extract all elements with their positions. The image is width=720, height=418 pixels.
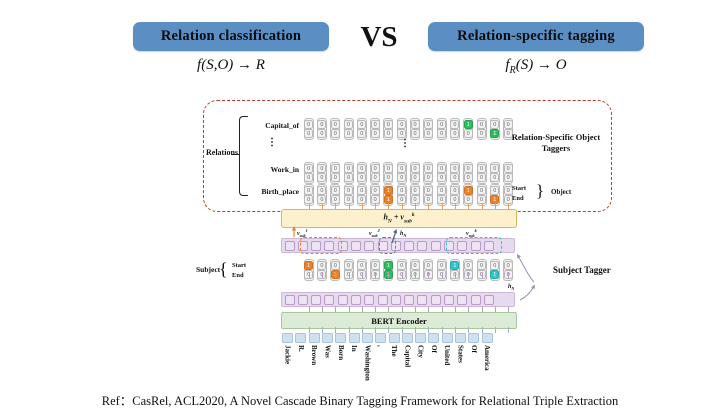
work-in-end-cell-11: 0	[450, 173, 459, 182]
encoder-token-top-9	[404, 241, 414, 251]
input-token-label-14: Of	[470, 345, 478, 353]
input-token-12: United	[441, 333, 454, 381]
capital-of-capsule-8: 00	[410, 118, 420, 140]
work-in-end-cell-6: 0	[384, 173, 393, 182]
subject-span-united-states-of-america	[446, 237, 502, 254]
tick-bar-to-grid-7	[402, 203, 403, 209]
work-in-col-13: 00	[475, 162, 488, 184]
subject-start-cell-9: 0	[424, 261, 433, 270]
capital-of-capsule-14: 01	[490, 118, 500, 140]
tick-purple-to-bert-4	[362, 307, 363, 312]
capital-of-end-cell-10: 0	[437, 129, 446, 138]
tick-purple-to-bert-7	[402, 307, 403, 312]
tick-subject-to-purple-6	[388, 272, 389, 278]
object-tagger-ellipsis-icon: ⋮	[400, 142, 410, 146]
capital-of-col-14: 01	[488, 118, 501, 140]
encoder-token-bottom-8	[391, 295, 401, 305]
object-start-end-labels: Start End	[512, 184, 526, 203]
object-label: Object	[551, 188, 571, 196]
birth-place-start-cell-6: 1	[384, 186, 393, 195]
tick-bert-to-input-15	[508, 327, 509, 333]
capital-of-capsule-13: 00	[477, 118, 487, 140]
tick-bert-to-input-3	[349, 327, 350, 333]
work-in-capsule-7: 00	[397, 162, 407, 184]
capital-of-col-8: 00	[408, 118, 421, 140]
input-token-box-4	[335, 333, 346, 343]
input-token-box-5	[349, 333, 360, 343]
tick-bert-to-input-2	[335, 327, 336, 333]
input-token-row: JackieR.BrownWasBornInWashington,TheCapi…	[281, 333, 494, 381]
subject-start-cell-0: 1	[304, 261, 313, 270]
subject-start-cell-2: 0	[331, 261, 340, 270]
work-in-end-cell-9: 0	[424, 173, 433, 182]
encoder-token-bottom-5	[351, 295, 361, 305]
work-in-start-cell-15: 0	[504, 164, 513, 173]
input-token-box-9	[402, 333, 413, 343]
subject-start-cell-1: 0	[317, 261, 326, 270]
work-in-col-12: 00	[462, 162, 475, 184]
relations-ellipsis-icon: ⋮	[267, 141, 277, 145]
tick-bar-to-grid-6	[388, 203, 389, 209]
input-token-box-14	[468, 333, 479, 343]
relation-specific-tagging-label: Relation-specific tagging	[457, 28, 615, 45]
capital-of-end-cell-2: 0	[331, 129, 340, 138]
capital-of-end-cell-5: 0	[371, 129, 380, 138]
work-in-capsule-5: 00	[370, 162, 380, 184]
tick-bert-to-input-6	[388, 327, 389, 333]
relation-classification-formula: f(S,O) → R	[133, 57, 329, 74]
birth-place-start-cell-10: 0	[437, 186, 446, 195]
subject-span-jackie-r-brown	[300, 237, 343, 254]
capital-of-start-cell-2: 0	[331, 120, 340, 129]
input-token-label-8: The	[390, 345, 398, 357]
subject-start-cell-14: 0	[490, 261, 499, 270]
tick-subject-to-purple-3	[349, 272, 350, 278]
capital-of-col-5: 00	[368, 118, 381, 140]
tick-subject-to-purple-7	[402, 272, 403, 278]
object-tagger-row-birth-place: 00000000000011000000000010000100	[302, 184, 515, 206]
capital-of-capsule-12: 10	[463, 118, 473, 140]
tick-bert-to-input-4	[362, 327, 363, 333]
tick-bar-to-grid-10	[442, 203, 443, 209]
capital-of-end-cell-1: 0	[317, 129, 326, 138]
tick-bert-to-input-9	[428, 327, 429, 333]
work-in-col-2: 00	[329, 162, 342, 184]
object-start-label: Start	[512, 184, 526, 194]
tick-subject-to-purple-15	[508, 272, 509, 278]
encoder-token-top-10	[417, 241, 427, 251]
relations-label: Relations	[206, 148, 238, 157]
input-token-box-1	[295, 333, 306, 343]
encoder-token-top-11	[431, 241, 441, 251]
subject-start-cell-6: 1	[384, 261, 393, 270]
subject-start-cell-10: 0	[437, 261, 446, 270]
input-token-14: Of	[467, 333, 480, 381]
capital-of-start-cell-6: 0	[384, 120, 393, 129]
encoder-token-bottom-3	[324, 295, 334, 305]
subject-start-end-labels: Start End	[232, 261, 246, 280]
tick-bar-to-grid-4	[362, 203, 363, 209]
tick-purple-to-bert-3	[349, 307, 350, 312]
subject-start-label: Start	[232, 261, 246, 271]
work-in-end-cell-2: 0	[331, 173, 340, 182]
relation-specific-tagging-box: Relation-specific tagging	[428, 22, 644, 51]
tick-bert-to-input-1	[322, 327, 323, 333]
work-in-start-cell-13: 0	[477, 164, 486, 173]
subject-start-cell-8: 0	[411, 261, 420, 270]
capital-of-end-cell-6: 0	[384, 129, 393, 138]
feature-bar-formula: hN + vsubk	[383, 212, 414, 224]
tick-purple-to-bert-15	[508, 307, 509, 312]
hn-tag: hN	[400, 231, 406, 238]
work-in-capsule-0: 00	[304, 162, 314, 184]
work-in-col-1: 00	[315, 162, 328, 184]
work-in-capsule-3: 00	[344, 162, 354, 184]
relation-classification-box: Relation classification	[133, 22, 329, 51]
subject-end-label: End	[232, 271, 246, 281]
relation-classification-label: Relation classification	[161, 28, 301, 45]
input-token-5: In	[347, 333, 360, 381]
work-in-start-cell-2: 0	[331, 164, 340, 173]
work-in-end-cell-15: 0	[504, 173, 513, 182]
birth-place-start-cell-14: 0	[490, 186, 499, 195]
tick-bert-to-input-5	[375, 327, 376, 333]
capital-of-end-cell-9: 0	[424, 129, 433, 138]
input-token-label-13: States	[457, 345, 465, 363]
capital-of-start-cell-10: 0	[437, 120, 446, 129]
capital-of-end-cell-4: 0	[357, 129, 366, 138]
birth-place-start-cell-7: 0	[397, 186, 406, 195]
tick-bar-to-grid-13	[482, 203, 483, 209]
object-tagger-row-capital-of: 00000000000000000000000010000100	[302, 118, 515, 140]
work-in-end-cell-3: 0	[344, 173, 353, 182]
subject-start-cell-11: 1	[450, 261, 459, 270]
work-in-start-cell-4: 0	[357, 164, 366, 173]
encoder-token-bottom-13	[457, 295, 467, 305]
input-token-1: R.	[294, 333, 307, 381]
object-tagger-row-work-in: 00000000000000000000000000000000	[302, 162, 515, 184]
input-token-label-7: ,	[377, 345, 385, 347]
input-token-box-12	[442, 333, 453, 343]
work-in-end-cell-1: 0	[317, 173, 326, 182]
tick-bar-to-grid-1	[322, 203, 323, 209]
tick-subject-to-purple-4	[362, 272, 363, 278]
tick-subject-to-purple-0	[309, 272, 310, 278]
capital-of-capsule-5: 00	[370, 118, 380, 140]
encoder-token-bottom-6	[364, 295, 374, 305]
vsub-tag-2: vsub2	[369, 228, 380, 238]
subject-label: Subject	[196, 265, 220, 274]
work-in-start-cell-3: 0	[344, 164, 353, 173]
capital-of-start-cell-15: 0	[504, 120, 513, 129]
work-in-col-6: 00	[382, 162, 395, 184]
capital-of-col-4: 00	[355, 118, 368, 140]
work-in-col-8: 00	[408, 162, 421, 184]
object-brace: }	[536, 181, 544, 201]
work-in-col-10: 00	[435, 162, 448, 184]
encoder-token-bottom-10	[417, 295, 427, 305]
slide-canvas: Relation classification f(S,O) → R VS Re…	[0, 0, 720, 418]
capital-of-capsule-6: 00	[383, 118, 393, 140]
relation-row-label-work-in: Work_in	[249, 165, 299, 174]
subject-tagger-row: 10000100000011000000001000000100	[302, 259, 515, 281]
tick-bar-to-grid-14	[495, 203, 496, 209]
birth-place-start-cell-3: 0	[344, 186, 353, 195]
capital-of-end-cell-12: 0	[464, 129, 473, 138]
capital-of-start-cell-12: 1	[464, 120, 473, 129]
tick-purple-to-bert-13	[482, 307, 483, 312]
reference-line: Ref：CasRel, ACL2020, A Novel Cascade Bin…	[0, 390, 720, 409]
work-in-end-cell-10: 0	[437, 173, 446, 182]
work-in-col-4: 00	[355, 162, 368, 184]
encoder-token-bottom-12	[444, 295, 454, 305]
capital-of-start-cell-11: 0	[450, 120, 459, 129]
capital-of-start-cell-9: 0	[424, 120, 433, 129]
input-token-10: City	[414, 333, 427, 381]
capital-of-col-2: 00	[329, 118, 342, 140]
relation-row-label-capital-of: Capital_of	[249, 121, 299, 130]
capital-of-col-11: 00	[448, 118, 461, 140]
birth-place-start-cell-2: 0	[331, 186, 340, 195]
capital-of-end-cell-7: 0	[397, 129, 406, 138]
tick-bert-to-input-13	[482, 327, 483, 333]
work-in-capsule-1: 00	[317, 162, 327, 184]
work-in-end-cell-8: 0	[411, 173, 420, 182]
birth-place-start-cell-4: 0	[357, 186, 366, 195]
tick-purple-to-bert-6	[388, 307, 389, 312]
tick-subject-to-purple-10	[442, 272, 443, 278]
subject-brace: {	[219, 259, 228, 280]
work-in-start-cell-12: 0	[464, 164, 473, 173]
tick-purple-to-bert-14	[495, 307, 496, 312]
input-token-9: Capital	[401, 333, 414, 381]
tick-bar-to-grid-3	[349, 203, 350, 209]
tick-bert-to-input-0	[309, 327, 310, 333]
capital-of-capsule-0: 00	[304, 118, 314, 140]
vs-label: VS	[334, 21, 424, 54]
tick-bar-to-grid-11	[455, 203, 456, 209]
tick-subject-to-purple-11	[455, 272, 456, 278]
work-in-col-15: 00	[501, 162, 514, 184]
work-in-start-cell-11: 0	[450, 164, 459, 173]
work-in-col-7: 00	[395, 162, 408, 184]
capital-of-col-12: 10	[462, 118, 475, 140]
tick-bert-to-input-12	[468, 327, 469, 333]
input-token-2: Brown	[308, 333, 321, 381]
capital-of-start-cell-13: 0	[477, 120, 486, 129]
capital-of-start-cell-14: 0	[490, 120, 499, 129]
work-in-end-cell-7: 0	[397, 173, 406, 182]
tick-bar-to-grid-12	[468, 203, 469, 209]
input-token-label-12: United	[443, 345, 451, 365]
input-token-7: ,	[374, 333, 387, 381]
birth-place-start-cell-11: 0	[450, 186, 459, 195]
birth-place-start-cell-0: 0	[304, 186, 313, 195]
subject-start-cell-13: 0	[477, 261, 486, 270]
input-token-13: States	[454, 333, 467, 381]
tick-purple-to-bert-0	[309, 307, 310, 312]
capital-of-start-cell-8: 0	[411, 120, 420, 129]
input-token-4: Born	[334, 333, 347, 381]
work-in-start-cell-5: 0	[371, 164, 380, 173]
input-token-box-7	[375, 333, 386, 343]
birth-place-start-cell-9: 0	[424, 186, 433, 195]
capital-of-capsule-10: 00	[437, 118, 447, 140]
work-in-end-cell-13: 0	[477, 173, 486, 182]
capital-of-col-3: 00	[342, 118, 355, 140]
input-token-box-13	[455, 333, 466, 343]
tick-purple-to-bert-2	[335, 307, 336, 312]
work-in-start-cell-10: 0	[437, 164, 446, 173]
input-token-label-1: R.	[297, 345, 305, 352]
tick-subject-to-purple-8	[415, 272, 416, 278]
encoder-token-bottom-15	[484, 295, 494, 305]
capital-of-capsule-7: 00	[397, 118, 407, 140]
birth-place-start-cell-13: 0	[477, 186, 486, 195]
work-in-capsule-6: 00	[383, 162, 393, 184]
capital-of-start-cell-4: 0	[357, 120, 366, 129]
encoder-token-bottom-11	[431, 295, 441, 305]
capital-of-start-cell-5: 0	[371, 120, 380, 129]
subject-start-cell-5: 0	[371, 261, 380, 270]
capital-of-capsule-1: 00	[317, 118, 327, 140]
tick-bar-to-grid-8	[415, 203, 416, 209]
work-in-end-cell-4: 0	[357, 173, 366, 182]
encoder-token-bottom-4	[338, 295, 348, 305]
capital-of-end-cell-0: 0	[304, 129, 313, 138]
input-token-8: The	[387, 333, 400, 381]
work-in-capsule-10: 00	[437, 162, 447, 184]
vsub-tag-1: vsub1	[297, 228, 308, 238]
capital-of-start-cell-0: 0	[304, 120, 313, 129]
input-token-box-3	[322, 333, 333, 343]
tick-purple-to-bert-12	[468, 307, 469, 312]
input-token-label-9: Capital	[403, 345, 411, 367]
birth-place-start-cell-8: 0	[411, 186, 420, 195]
tick-bar-to-grid-2	[335, 203, 336, 209]
capital-of-capsule-11: 00	[450, 118, 460, 140]
capital-of-end-cell-11: 0	[450, 129, 459, 138]
input-token-box-6	[362, 333, 373, 343]
work-in-capsule-15: 00	[503, 162, 513, 184]
input-token-label-15: America	[483, 345, 491, 371]
work-in-end-cell-0: 0	[304, 173, 313, 182]
input-token-3: Was	[321, 333, 334, 381]
tick-purple-to-bert-11	[455, 307, 456, 312]
input-token-6: Washington	[361, 333, 374, 381]
work-in-start-cell-1: 0	[317, 164, 326, 173]
relation-row-label-birth-place: Birth_place	[244, 187, 299, 196]
rsot-title-text: Relation-Specific Object Taggers	[512, 132, 601, 153]
tick-subject-to-purple-13	[482, 272, 483, 278]
input-token-box-11	[428, 333, 439, 343]
subject-start-cell-12: 0	[464, 261, 473, 270]
tick-purple-to-bert-10	[442, 307, 443, 312]
input-token-box-0	[282, 333, 293, 343]
capital-of-end-cell-3: 0	[344, 129, 353, 138]
work-in-col-11: 00	[448, 162, 461, 184]
tick-purple-to-bert-5	[375, 307, 376, 312]
work-in-start-cell-7: 0	[397, 164, 406, 173]
birth-place-start-cell-1: 0	[317, 186, 326, 195]
work-in-capsule-9: 00	[423, 162, 433, 184]
tick-purple-to-bert-1	[322, 307, 323, 312]
input-token-label-0: Jackie	[284, 345, 292, 364]
capital-of-start-cell-7: 0	[397, 120, 406, 129]
work-in-capsule-4: 00	[357, 162, 367, 184]
encoder-token-bottom-2	[311, 295, 321, 305]
work-in-capsule-8: 00	[410, 162, 420, 184]
capital-of-col-9: 00	[422, 118, 435, 140]
work-in-start-cell-6: 0	[384, 164, 393, 173]
vsub-tag-k: vsubk	[466, 228, 477, 238]
capital-of-capsule-4: 00	[357, 118, 367, 140]
encoder-token-bottom-7	[378, 295, 388, 305]
tick-bert-to-input-7	[402, 327, 403, 333]
capital-of-start-cell-1: 0	[317, 120, 326, 129]
input-token-label-6: Washington	[363, 345, 371, 381]
subject-start-cell-4: 0	[357, 261, 366, 270]
work-in-end-cell-5: 0	[371, 173, 380, 182]
work-in-capsule-11: 00	[450, 162, 460, 184]
tick-subject-to-purple-2	[335, 272, 336, 278]
tick-bar-to-grid-15	[508, 203, 509, 209]
capital-of-end-cell-13: 0	[477, 129, 486, 138]
tick-bert-to-input-14	[495, 327, 496, 333]
tick-bar-to-grid-0	[309, 203, 310, 209]
capital-of-col-1: 00	[315, 118, 328, 140]
work-in-start-cell-9: 0	[424, 164, 433, 173]
feature-bar: hN + vsubk	[281, 209, 517, 228]
encoder-token-top-6	[364, 241, 374, 251]
tick-purple-to-bert-8	[415, 307, 416, 312]
capital-of-capsule-3: 00	[344, 118, 354, 140]
work-in-col-3: 00	[342, 162, 355, 184]
input-token-label-3: Was	[324, 345, 332, 358]
tick-bert-to-input-11	[455, 327, 456, 333]
encoder-output-layer-bottom	[281, 292, 515, 307]
tick-purple-to-bert-9	[428, 307, 429, 312]
work-in-col-14: 00	[488, 162, 501, 184]
subject-start-cell-3: 0	[344, 261, 353, 270]
capital-of-start-cell-3: 0	[344, 120, 353, 129]
tick-subject-to-purple-1	[322, 272, 323, 278]
work-in-end-cell-14: 0	[490, 173, 499, 182]
subject-start-cell-7: 0	[397, 261, 406, 270]
input-token-label-10: City	[417, 345, 425, 358]
birth-place-start-cell-5: 0	[371, 186, 380, 195]
hn-tag-bottom: hN	[508, 284, 514, 291]
capital-of-col-7: 00	[395, 118, 408, 140]
work-in-start-cell-14: 0	[490, 164, 499, 173]
encoder-token-top-5	[351, 241, 361, 251]
subject-span-washington	[379, 237, 395, 254]
capital-of-col-13: 00	[475, 118, 488, 140]
input-token-0: Jackie	[281, 333, 294, 381]
work-in-start-cell-0: 0	[304, 164, 313, 173]
relation-specific-tagging-formula: fR(S) → O	[428, 57, 644, 76]
input-token-label-4: Born	[337, 345, 345, 360]
bert-encoder-label: BERT Encoder	[371, 316, 427, 326]
tick-subject-to-purple-5	[375, 272, 376, 278]
input-token-11: Of	[427, 333, 440, 381]
work-in-start-cell-8: 0	[411, 164, 420, 173]
tick-subject-to-purple-9	[428, 272, 429, 278]
tick-bar-to-grid-9	[428, 203, 429, 209]
input-token-box-15	[482, 333, 493, 343]
work-in-capsule-13: 00	[477, 162, 487, 184]
capital-of-col-6: 00	[382, 118, 395, 140]
